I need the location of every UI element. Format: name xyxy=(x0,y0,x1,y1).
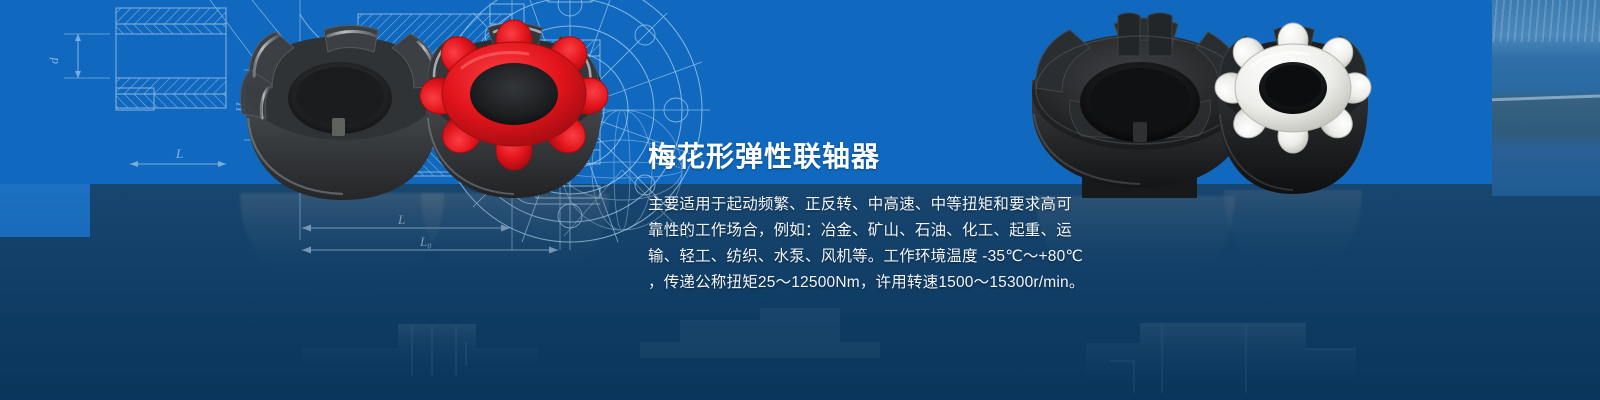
blueprint-label-l-upper: L xyxy=(175,146,183,161)
machine-photo-strip xyxy=(1492,0,1600,196)
product-description: 主要适用于起动频繁、正反转、中高速、中等扭矩和要求高可 靠性的工作场合，例如：冶… xyxy=(648,192,1068,296)
reflection-coupling-red-spider xyxy=(415,193,615,298)
reflection-coupling-white-spider xyxy=(1218,190,1368,285)
ghost-machinery-center xyxy=(640,300,880,360)
coupling-red-spider xyxy=(410,18,620,203)
description-line-1: 主要适用于起动频繁、正反转、中高速、中等扭矩和要求高可 xyxy=(648,192,1068,218)
background-band-dark-right xyxy=(1508,184,1600,400)
description-line-4: ，传递公称扭矩25～12500Nm，许用转速1500～15300r/min。 xyxy=(648,270,1068,296)
ghost-machinery-left xyxy=(280,318,580,400)
description-line-3: 输、轻工、纺织、水泵、风机等。工作环境温度 -35℃～+80℃ xyxy=(648,244,1068,270)
page-title: 梅花形弹性联轴器 xyxy=(648,140,880,174)
blueprint-label-d: d xyxy=(46,57,61,64)
ghost-machinery-right xyxy=(1070,315,1370,400)
product-banner: d H L L L₀ D₁ xyxy=(0,0,1600,400)
coupling-white-spider xyxy=(1212,22,1374,200)
description-line-2: 靠性的工作场合，例如：冶金、矿山、石油、化工、起重、运 xyxy=(648,218,1068,244)
